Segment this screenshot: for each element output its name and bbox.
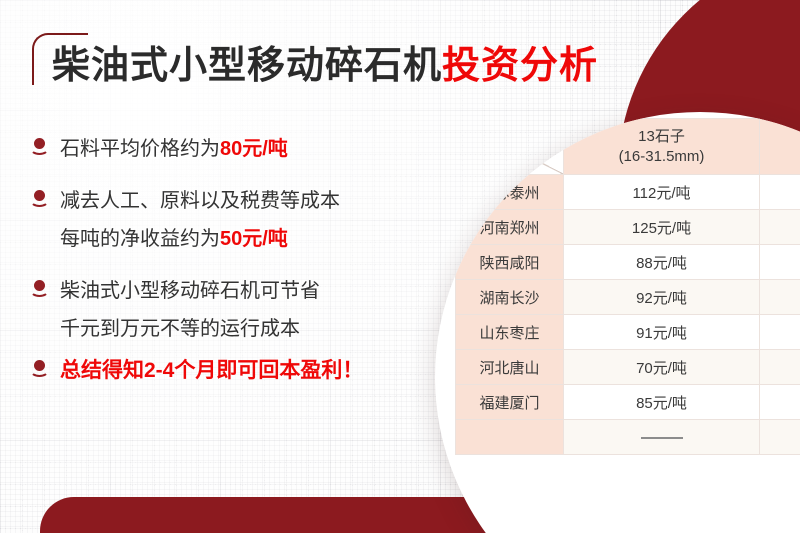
list-item-line2-highlight: 50元/吨 [220,228,288,250]
bullet-marker-icon [30,188,52,214]
table-cell-price-2: 85元/吨 [760,385,800,420]
bullet-marker-icon [30,358,52,384]
table-cell-price-1: 85元/吨 [564,385,760,420]
page-title: 柴油式小型移动碎石机投资分析 [52,46,598,88]
table-cell-price-2: 113元/吨 [760,175,800,210]
page-title-accent: 投资分析 [442,45,598,87]
list-item-line2: 千元到万元不等的运行成本 [60,310,320,348]
list-item-text: 总结得知2-4个月即可回本盈利！ [60,352,363,390]
list-item-line2: 每吨的净收益约为 [60,228,220,250]
list-item-text: 减去人工、原料以及税费等成本 每吨的净收益约为50元/吨 [60,182,340,258]
table-cell-region: 陕西咸阳 [456,245,564,280]
table-cell-price-1: 112元/吨 [564,175,760,210]
list-item-line1: 石料平均价格约为 [60,138,220,160]
empty-dash-icon [641,437,683,439]
table-cell-region: 河北唐山 [456,350,564,385]
bullet-list: 石料平均价格约为80元/吨 减去人工、原料以及税费等成本 每吨的净收益约为50元… [30,130,430,394]
table-cell-price-1: 91元/吨 [564,315,760,350]
list-item: 减去人工、原料以及税费等成本 每吨的净收益约为50元/吨 [30,182,430,258]
table-cell-price-1 [564,420,760,455]
list-item: 石料平均价格约为80元/吨 [30,130,430,168]
table-row: 湖南长沙92元/吨92元/吨 [456,280,800,315]
table-cell-price-2: 105元/吨 [760,245,800,280]
table-header-row: 13石子 (16-31.5mm) (10- [456,119,800,175]
price-table: 13石子 (16-31.5mm) (10- 江苏泰州112元/吨113元/吨河南… [455,118,800,455]
table-cell-region: 河南郑州 [456,210,564,245]
col1-sub: (16-31.5mm) [619,148,705,165]
table-cell-region: 山东枣庄 [456,315,564,350]
list-item-summary: 总结得知2-4个月即可回本盈利！ [30,352,430,390]
bullet-marker-icon [30,136,52,162]
price-table-card: 13石子 (16-31.5mm) (10- 江苏泰州112元/吨113元/吨河南… [435,112,800,533]
table-cell-region: 福建厦门 [456,385,564,420]
price-table-body: 江苏泰州112元/吨113元/吨河南郑州125元/吨130元/吨陕西咸阳88元/… [456,175,800,455]
table-header-col-2: (10- [760,119,800,175]
table-row [456,420,800,455]
list-item-line1: 减去人工、原料以及税费等成本 [60,190,340,212]
table-header-col-1: 13石子 (16-31.5mm) [564,119,760,175]
table-cell-price-1: 70元/吨 [564,350,760,385]
list-item-line1-highlight: 80元/吨 [220,138,288,160]
col1-label: 13石子 [638,128,685,145]
table-cell-price-1: 92元/吨 [564,280,760,315]
list-item-text: 石料平均价格约为80元/吨 [60,130,288,168]
table-cell-price-1: 125元/吨 [564,210,760,245]
diagonal-divider-icon [456,119,563,174]
table-row: 河北唐山70元/吨70元/吨 [456,350,800,385]
table-cell-price-2: 70元/吨 [760,350,800,385]
price-table-wrap: 13石子 (16-31.5mm) (10- 江苏泰州112元/吨113元/吨河南… [455,118,800,455]
poster-canvas: 柴油式小型移动碎石机投资分析 石料平均价格约为80元/吨 减去人工、原料以及税费… [0,0,800,533]
list-item-text: 柴油式小型移动碎石机可节省 千元到万元不等的运行成本 [60,272,320,348]
table-row: 江苏泰州112元/吨113元/吨 [456,175,800,210]
table-row: 河南郑州125元/吨130元/吨 [456,210,800,245]
table-cell-region: 江苏泰州 [456,175,564,210]
table-cell-region: 湖南长沙 [456,280,564,315]
table-cell-price-2: 130元/吨 [760,210,800,245]
table-cell-price-2 [760,420,800,455]
bullet-marker-icon [30,278,52,304]
table-row: 山东枣庄91元/吨91元/吨 [456,315,800,350]
price-table-head: 13石子 (16-31.5mm) (10- [456,119,800,175]
list-item-line1: 柴油式小型移动碎石机可节省 [60,280,320,302]
table-row: 福建厦门85元/吨85元/吨 [456,385,800,420]
table-corner-cell [456,119,564,175]
table-cell-price-1: 88元/吨 [564,245,760,280]
table-cell-price-2: 92元/吨 [760,280,800,315]
table-cell-price-2: 91元/吨 [760,315,800,350]
table-cell-region [456,420,564,455]
table-row: 陕西咸阳88元/吨105元/吨 [456,245,800,280]
page-title-main: 柴油式小型移动碎石机 [52,45,442,87]
list-item-line2-wrap: 每吨的净收益约为50元/吨 [60,220,340,258]
list-item: 柴油式小型移动碎石机可节省 千元到万元不等的运行成本 [30,272,430,348]
